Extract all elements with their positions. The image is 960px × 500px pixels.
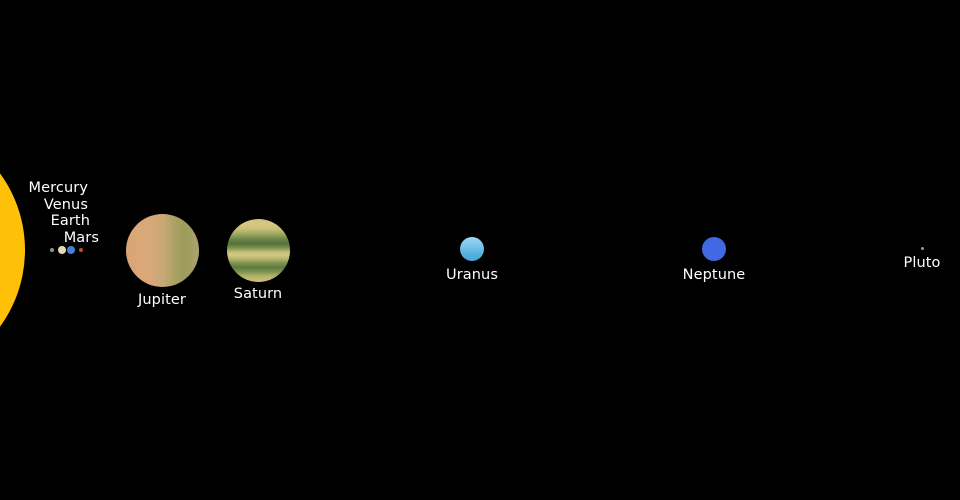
planet-neptune[interactable]	[702, 237, 726, 261]
solar-system-diagram: MercuryVenusEarthMars JupiterSaturnUranu…	[0, 0, 960, 500]
planet-saturn[interactable]	[227, 219, 290, 282]
planet-earth[interactable]	[67, 246, 76, 255]
planet-pluto[interactable]	[921, 247, 924, 250]
inner-planet-label-mars: Mars	[64, 230, 99, 247]
planet-label-uranus: Uranus	[446, 267, 498, 284]
planet-label-jupiter: Jupiter	[138, 292, 186, 309]
planet-mars[interactable]	[79, 248, 84, 253]
planet-uranus[interactable]	[460, 237, 484, 261]
inner-planet-label-venus: Venus	[44, 197, 88, 214]
planet-venus[interactable]	[58, 246, 66, 254]
planet-jupiter[interactable]	[126, 214, 199, 287]
planet-label-neptune: Neptune	[683, 267, 746, 284]
inner-planet-label-earth: Earth	[51, 213, 90, 230]
sun-body	[0, 120, 25, 380]
inner-planet-label-mercury: Mercury	[29, 180, 88, 197]
planet-label-pluto: Pluto	[903, 255, 940, 272]
planet-mercury[interactable]	[50, 248, 54, 252]
planet-label-saturn: Saturn	[234, 286, 282, 303]
